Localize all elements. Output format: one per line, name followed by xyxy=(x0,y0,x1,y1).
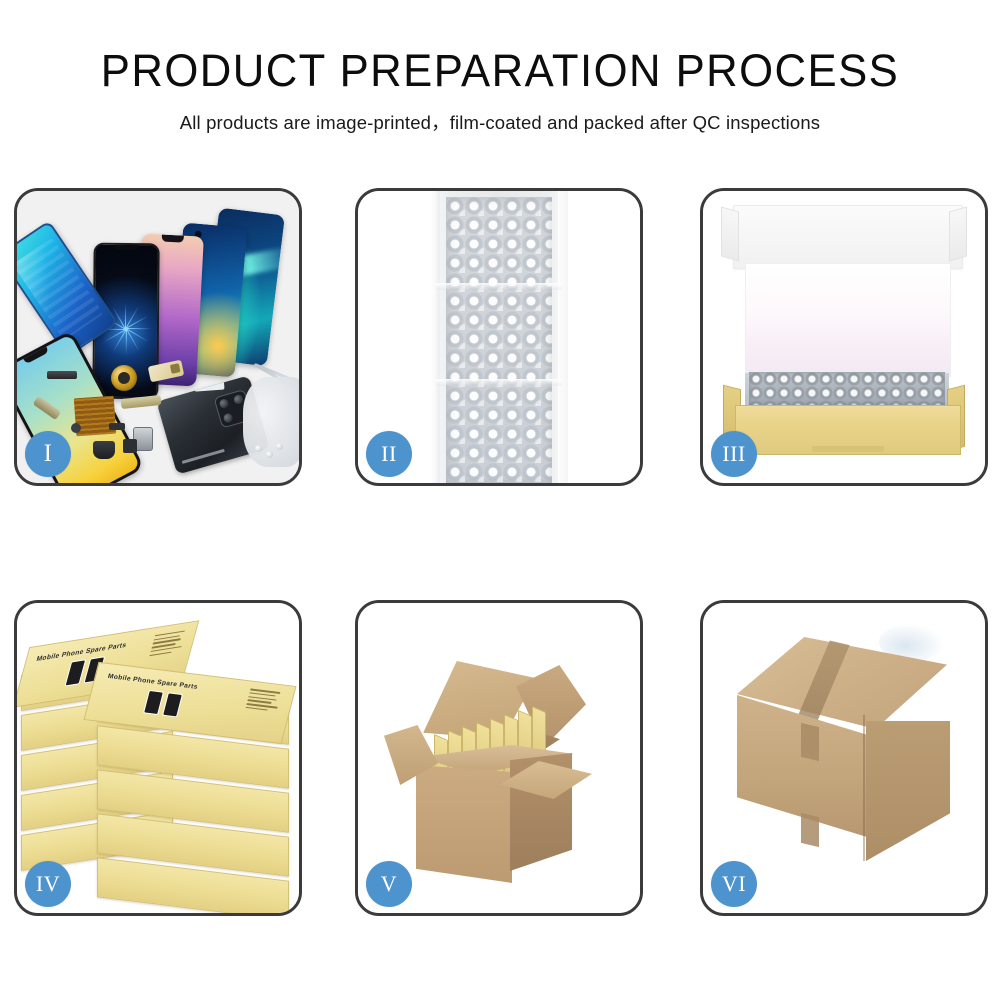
mailer-lid-inner-face xyxy=(745,263,951,377)
notch-cutout xyxy=(23,346,49,364)
vibrator-motor-part xyxy=(93,441,115,459)
carton-corner-edge xyxy=(863,715,865,861)
screen-thumb xyxy=(162,692,183,717)
button-part xyxy=(71,423,81,433)
header: PRODUCT PREPARATION PROCESS All products… xyxy=(0,0,1000,135)
retail-box-spec-lines xyxy=(246,688,282,712)
step-badge-2: II xyxy=(366,431,412,477)
process-step-grid: I II xyxy=(0,181,1000,921)
mailer-lid-ear-right xyxy=(949,206,967,261)
chip-part xyxy=(123,439,137,453)
process-step-panel-4[interactable]: Mobile Phone Spare Parts Mobile Phone Sp… xyxy=(14,600,302,916)
bracket-part xyxy=(109,423,125,430)
process-step-panel-3[interactable]: III xyxy=(700,188,988,486)
mailer-box-front xyxy=(735,405,961,455)
wrap-fold-left xyxy=(430,191,440,483)
wrap-fold-right xyxy=(558,191,568,483)
notch-cutout xyxy=(162,235,184,243)
housing-print xyxy=(182,449,225,464)
page-title: PRODUCT PREPARATION PROCESS xyxy=(15,0,985,97)
bubble-pattern xyxy=(446,197,552,483)
earpiece-bar-part xyxy=(47,371,77,379)
retail-box-stack: Mobile Phone Spare Parts Mobile Phone Sp… xyxy=(21,627,299,905)
flex-cable xyxy=(194,382,224,392)
speaker-part xyxy=(111,365,137,391)
process-step-panel-1[interactable]: I xyxy=(14,188,302,486)
notch-cutout xyxy=(115,244,139,250)
step-badge-1: I xyxy=(25,431,71,477)
step-badge-6: VI xyxy=(711,861,757,907)
mailer-lid-ear-left xyxy=(721,206,739,261)
sealing-tape-upper xyxy=(801,723,819,761)
step-badge-3: III xyxy=(711,431,757,477)
page-subtitle: All products are image-printed，film-coat… xyxy=(0,97,1000,135)
mailer-lid-back xyxy=(733,205,963,269)
process-step-panel-6[interactable]: VI xyxy=(700,600,988,916)
process-step-panel-2[interactable]: II xyxy=(355,188,643,486)
retail-box-screen-images xyxy=(143,690,183,717)
process-step-panel-5[interactable]: V xyxy=(355,600,643,916)
screen-thumb xyxy=(143,690,164,715)
wrap-seam-upper xyxy=(436,283,562,290)
retail-box-spec-lines xyxy=(149,630,186,656)
retail-box-label: Mobile Phone Spare Parts xyxy=(107,673,198,691)
wrap-seam-lower xyxy=(436,379,562,386)
sealed-carton-side-panel xyxy=(866,721,950,861)
carton-front-panel xyxy=(416,765,512,883)
sealing-tape-lower xyxy=(801,813,819,847)
step-badge-4: IV xyxy=(25,861,71,907)
bubble-wrapped-bundle xyxy=(749,372,945,405)
screws-part xyxy=(255,443,285,459)
step-badge-5: V xyxy=(366,861,412,907)
bubble-wrap-sheet xyxy=(436,191,562,483)
